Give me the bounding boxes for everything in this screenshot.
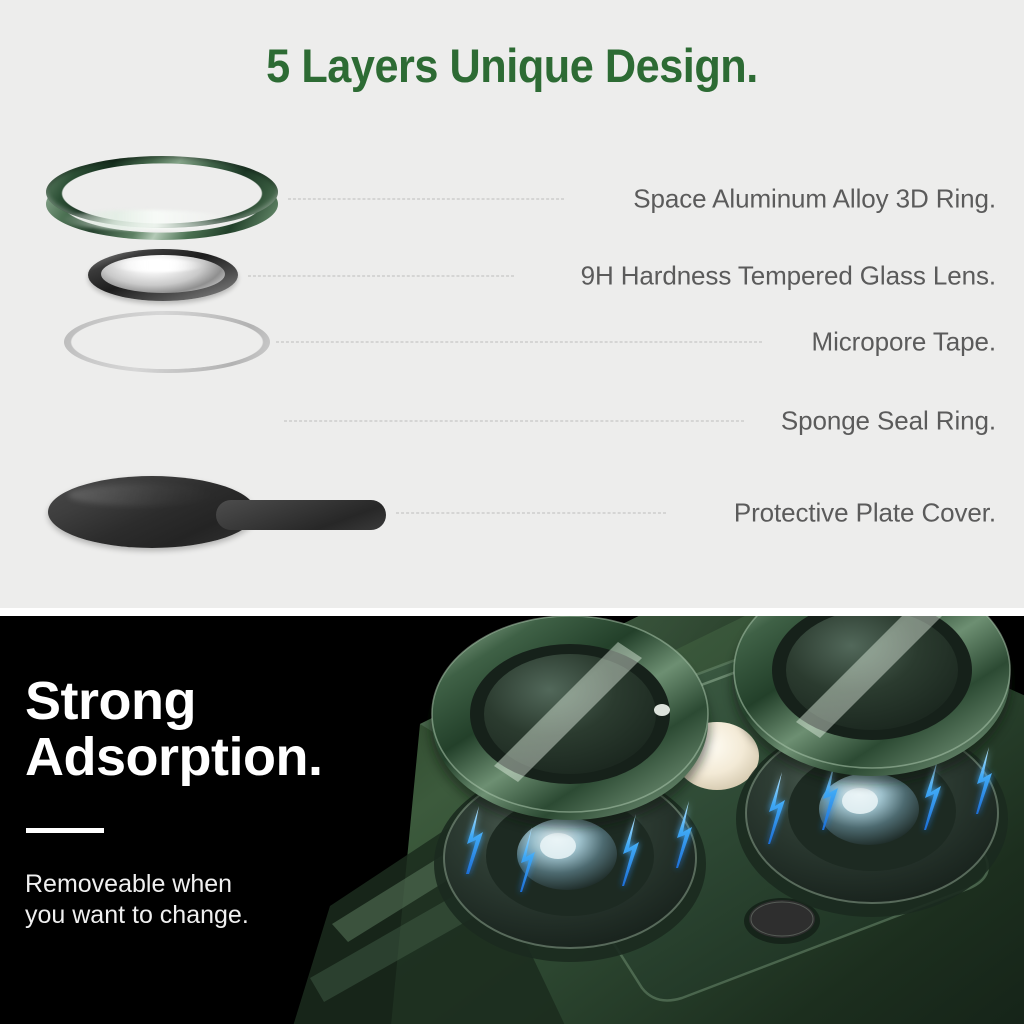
- leader-line-4: [284, 421, 744, 422]
- protective-plate-cover-icon: [48, 476, 386, 550]
- product-infographic: 5 Layers Unique Design. Space Aluminum A…: [0, 0, 1024, 1024]
- layer-label-3: Micropore Tape.: [812, 327, 996, 358]
- layer-label-2: 9H Hardness Tempered Glass Lens.: [581, 261, 996, 292]
- layer-label-1: Space Aluminum Alloy 3D Ring.: [633, 184, 996, 215]
- tempered-glass-lens-icon: [88, 249, 238, 303]
- layer-label-5: Protective Plate Cover.: [734, 498, 996, 529]
- layers-panel: 5 Layers Unique Design. Space Aluminum A…: [0, 0, 1024, 608]
- leader-line-2: [248, 276, 514, 277]
- adsorption-panel: Strong Adsorption. Removeable when you w…: [0, 616, 1024, 1024]
- lens-protector-ring-left: [430, 616, 710, 828]
- page-title: 5 Layers Unique Design.: [41, 38, 983, 93]
- sponge-seal-ring-icon: [50, 382, 272, 460]
- leader-line-1: [288, 199, 564, 200]
- leader-line-5: [396, 513, 666, 514]
- phone-camera-illustration: [270, 616, 1024, 1024]
- layer-label-4: Sponge Seal Ring.: [781, 406, 996, 437]
- heading-divider: [26, 828, 104, 833]
- adsorption-subtitle: Removeable when you want to change.: [25, 869, 249, 930]
- micropore-tape-icon: [64, 311, 270, 373]
- leader-line-3: [276, 342, 762, 343]
- green-aluminum-ring-icon: [46, 156, 278, 242]
